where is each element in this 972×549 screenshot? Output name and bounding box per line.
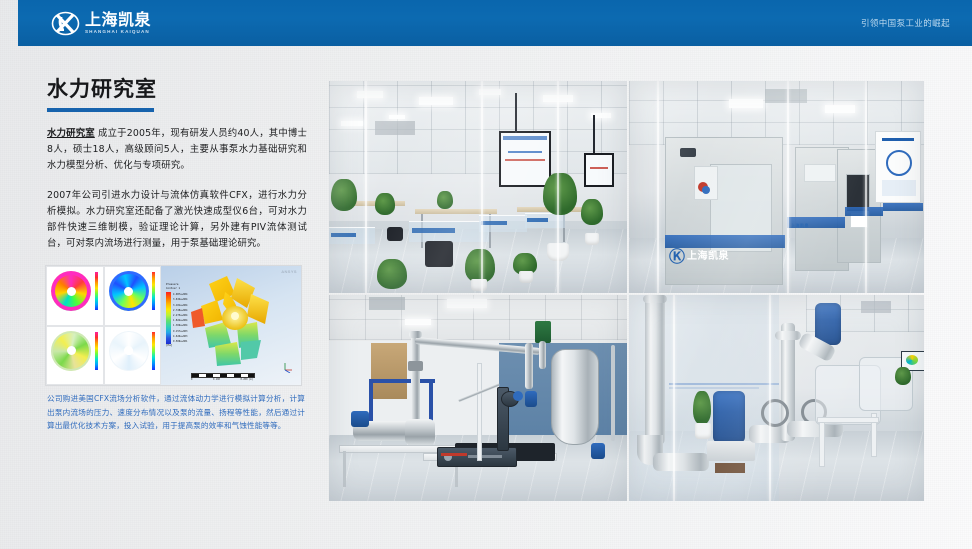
impeller-contour-streamline <box>46 326 104 386</box>
ceiling-vent-icon <box>765 89 807 103</box>
axis-triad-icon <box>282 361 294 373</box>
ceiling-vent-icon <box>375 121 415 135</box>
desk-partition <box>525 213 565 228</box>
desk-partition <box>329 227 375 244</box>
pump-volute <box>405 419 435 445</box>
office-chair <box>387 227 403 241</box>
ansys-watermark: ANSYS <box>281 269 297 274</box>
ceiling-lamp-icon <box>419 97 453 105</box>
blue-shelf <box>369 379 435 383</box>
ceiling-vent-icon <box>861 301 891 313</box>
logo-watermark-icon: Ⓚ <box>669 243 685 267</box>
impeller-contour-faint <box>104 326 162 386</box>
cfd-contour-grid <box>46 266 161 385</box>
ceiling-lamp-icon <box>405 319 431 325</box>
table-leg <box>343 451 346 487</box>
office-chair <box>425 241 453 267</box>
glass-mullion <box>365 81 367 293</box>
scale-label-right: 0.200 (m) <box>241 378 253 381</box>
pump-base <box>707 441 755 461</box>
potted-plant <box>465 249 495 283</box>
wall-pipe <box>611 345 615 441</box>
vessel-stand-leg <box>819 421 825 467</box>
glass-brand-strip <box>669 383 779 385</box>
photo-piv-flow-test-bench <box>329 295 627 501</box>
instrument-box <box>525 391 537 407</box>
company-logo[interactable]: 上海凯泉 SHANGHAI KAIQUAN <box>51 8 166 39</box>
green-valve-actuator <box>535 321 551 343</box>
glass-mullion <box>769 295 771 501</box>
header-tagline: 引领中国泵工业的崛起 <box>861 0 950 46</box>
cardboard-box <box>371 343 407 399</box>
projection-screen <box>499 131 551 187</box>
slide-root: 上海凯泉 SHANGHAI KAIQUAN 引领中国泵工业的崛起 水力研究室 水… <box>0 0 972 549</box>
pump-mount-block <box>715 463 745 473</box>
vertical-pipe <box>411 335 420 427</box>
laser-indicator <box>441 453 467 456</box>
potted-plant <box>693 391 711 425</box>
glass-mullion <box>787 81 789 293</box>
potted-plant <box>437 191 453 209</box>
screen-mount <box>515 93 517 133</box>
title-underline-rule <box>47 108 154 112</box>
screen-mount <box>593 115 595 153</box>
impeller-contour-icon <box>109 331 149 371</box>
pump-motor <box>351 411 369 427</box>
brand-text: 上海凯泉 <box>687 247 729 262</box>
glass-mullion <box>557 81 559 293</box>
pipe-flange <box>409 331 422 338</box>
vertical-pipe <box>525 343 533 389</box>
header-bar: 上海凯泉 SHANGHAI KAIQUAN 引领中国泵工业的崛起 <box>18 0 972 46</box>
glass-brand-strip <box>669 387 759 389</box>
scale-label-mid: 0.100 <box>213 378 220 381</box>
camera-lens <box>513 391 523 401</box>
legend-colorbar-icon <box>166 292 171 344</box>
photo-hydraulic-lab-office <box>329 81 627 293</box>
blue-shelf-leg <box>369 381 373 425</box>
brand-text: 上海凯泉 <box>791 223 809 229</box>
pipe-flange <box>643 295 667 303</box>
kaiquan-logo-icon <box>51 9 80 38</box>
plant-pot <box>519 271 533 283</box>
support-post <box>477 363 482 461</box>
colorbar-icon <box>152 272 155 310</box>
potted-plant <box>581 199 603 225</box>
logo-text-cn: 上海凯泉 <box>85 12 151 28</box>
glass-mullion <box>865 81 867 293</box>
brand-band <box>883 203 923 211</box>
paragraph-intro: 水力研究室 成立于2005年，现有研发人员约40人，其中博士8人，硕士18人，高… <box>47 126 307 175</box>
paragraph-lead-term: 水力研究室 <box>47 128 95 139</box>
plant-pot <box>471 279 487 291</box>
vessel-stand-rail <box>817 417 879 423</box>
ceiling-lamp-icon <box>357 91 383 98</box>
horizontal-pipe <box>653 453 709 471</box>
potted-plant <box>331 179 357 211</box>
vertical-pipe <box>539 341 546 369</box>
hand-wheel-valve <box>761 399 789 427</box>
glass-mullion <box>673 295 675 501</box>
impeller-contour-velocity <box>104 266 162 326</box>
ceiling-lamp-icon <box>341 121 363 126</box>
potted-plant <box>543 173 577 215</box>
paragraph-software: 2007年公司引进水力设计与流体仿真软件CFX，进行水力分析模拟。水力研究室还配… <box>47 188 307 253</box>
ceiling-lamp-icon <box>729 99 763 108</box>
desk <box>415 209 497 214</box>
brand-band <box>845 207 883 216</box>
potted-plant <box>377 259 407 289</box>
scale-label-left: 0 <box>191 378 192 381</box>
blue-shelf-leg <box>429 381 433 421</box>
impeller-3d-blade-icon <box>185 272 281 376</box>
pipe-flange <box>775 331 801 340</box>
glass-mullion <box>481 81 483 293</box>
floor-pump <box>591 443 605 459</box>
desk-partition <box>479 215 527 232</box>
cfd-caption: 公司购进美国CFX流场分析软件，通过流体动力学进行模拟计算分析，计算出泵内流场的… <box>47 392 305 433</box>
colorbar-icon <box>152 332 155 370</box>
impeller-contour-icon <box>109 271 149 311</box>
scale-bar: 0 0.100 0.200 (m) <box>191 373 253 381</box>
scale-bar-icon <box>191 373 255 378</box>
glass-mullion <box>657 81 659 293</box>
potted-plant <box>375 193 395 215</box>
plant-pot <box>695 423 711 439</box>
secondary-display <box>584 153 614 187</box>
left-content-column: 水力研究室 水力研究室 成立于2005年，现有研发人员约40人，其中博士8人，硕… <box>47 78 307 265</box>
cfd-3d-blade-view: ANSYS Pressure Contour 1 4.087e+004 3.63… <box>161 266 301 385</box>
photo-pump-test-pipeline <box>629 295 924 501</box>
logo-text-en: SHANGHAI KAIQUAN <box>85 30 151 35</box>
ceiling-lamp-icon <box>447 299 487 308</box>
pressure-tank <box>551 349 599 445</box>
ceiling-lamp-icon <box>389 115 405 119</box>
page-title: 水力研究室 <box>47 78 307 101</box>
ceiling-lamp-icon <box>825 105 855 113</box>
pipe-flange <box>408 361 423 371</box>
impeller-contour-pressure <box>46 266 104 326</box>
large-vertical-pipe <box>645 295 665 445</box>
colorbar-icon <box>95 272 98 310</box>
ceiling-vent-icon <box>369 297 405 310</box>
impeller-contour-icon <box>51 331 91 371</box>
plant-pot <box>585 233 599 245</box>
wall-poster <box>875 131 921 203</box>
impeller-contour-icon <box>51 271 91 311</box>
potted-plant <box>895 367 911 385</box>
desk-partition <box>409 221 489 242</box>
photo-rapid-prototyping-machines: Ⓚ 上海凯泉 上海凯泉 <box>629 81 924 293</box>
cfd-impeller-simulation-figure: ANSYS Pressure Contour 1 4.087e+004 3.63… <box>45 265 302 386</box>
photo-grid: Ⓚ 上海凯泉 上海凯泉 <box>329 81 924 501</box>
colorbar-icon <box>95 332 98 370</box>
blue-pump-motor <box>713 391 745 443</box>
